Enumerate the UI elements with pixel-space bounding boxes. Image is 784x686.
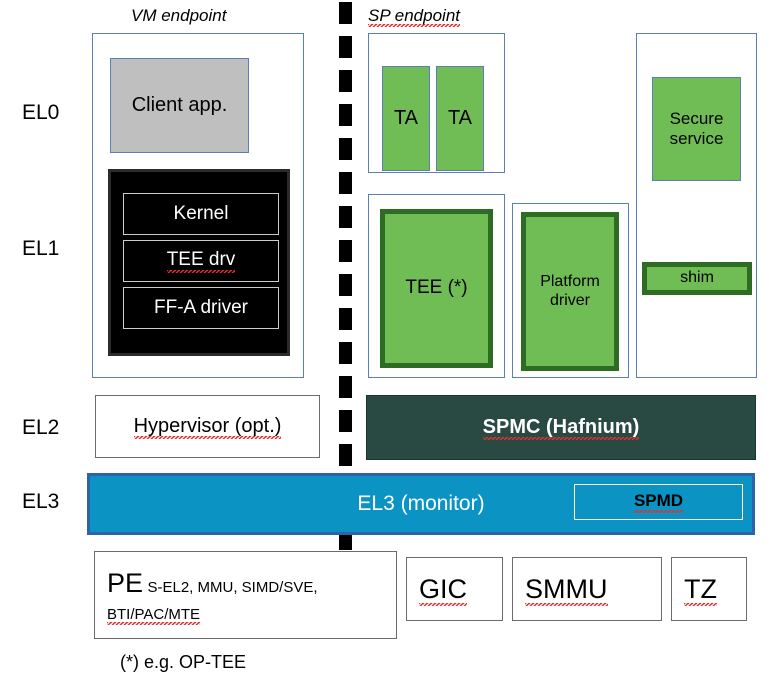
secure-boundary-dash: [339, 70, 352, 92]
secure-boundary-dash: [339, 240, 352, 262]
secure-boundary-dash: [339, 2, 352, 24]
ta-box-2[interactable]: TA: [436, 66, 484, 171]
hw-box-gic[interactable]: GIC: [406, 557, 503, 621]
hw-box-tz[interactable]: TZ: [671, 557, 747, 621]
spmd-label: SPMD: [634, 491, 683, 513]
spmc-label: SPMC (Hafnium): [483, 416, 640, 439]
spmc-box[interactable]: SPMC (Hafnium): [366, 395, 756, 460]
secure-boundary-dash: [339, 308, 352, 330]
secure-boundary-dash: [339, 274, 352, 296]
hw-box-smmu[interactable]: SMMU: [512, 557, 662, 621]
ta-box-1[interactable]: TA: [382, 66, 430, 171]
architecture-diagram: VM endpoint SP endpoint EL0 EL1 EL2 EL3 …: [0, 0, 784, 686]
el-label-el1: EL1: [22, 237, 59, 261]
secure-boundary-dash: [339, 206, 352, 228]
secure-boundary-dash: [339, 36, 352, 58]
secure-boundary-dash: [339, 410, 352, 432]
tee-drv-label: TEE drv: [167, 249, 236, 273]
pe-detail-line2: BTI/PAC/MTE: [107, 606, 200, 625]
sp-endpoint-title: SP endpoint: [368, 6, 460, 26]
ffa-driver-box[interactable]: FF-A driver: [123, 287, 279, 329]
pe-detail-line1: S-EL2, MMU, SIMD/SVE,: [147, 579, 317, 596]
pe-title: PE: [107, 568, 143, 598]
el3-monitor-label: EL3 (monitor): [357, 492, 484, 516]
hw-box-pe[interactable]: PE S-EL2, MMU, SIMD/SVE, BTI/PAC/MTE: [94, 551, 397, 639]
el-label-el2: EL2: [22, 416, 59, 440]
kernel-box[interactable]: Kernel: [123, 193, 279, 235]
platform-driver-label: Platform driver: [526, 273, 614, 311]
tz-label: TZ: [684, 574, 717, 605]
el-label-el0-text: EL0: [22, 101, 59, 124]
platform-driver-box[interactable]: Platform driver: [521, 212, 619, 371]
secure-boundary-dash: [339, 104, 352, 126]
el-label-el0: EL0: [22, 101, 59, 125]
footnote-text: (*) e.g. OP-TEE: [120, 652, 246, 672]
vm-endpoint-title: VM endpoint: [131, 6, 226, 26]
secure-service-box[interactable]: Secure service: [652, 77, 741, 181]
client-app-label: Client app.: [132, 94, 228, 117]
secure-boundary-dash: [339, 138, 352, 160]
shim-label: shim: [680, 269, 714, 288]
tee-label: TEE (*): [405, 277, 467, 299]
ffa-driver-label: FF-A driver: [154, 297, 248, 319]
ta-label-2: TA: [448, 107, 472, 130]
ta-label-1: TA: [394, 107, 418, 130]
secure-boundary-dash: [339, 376, 352, 398]
el-label-el3: EL3: [22, 490, 59, 514]
footnote: (*) e.g. OP-TEE: [120, 652, 246, 673]
secure-boundary-dash: [339, 172, 352, 194]
secure-boundary-dash: [339, 342, 352, 364]
secure-service-label: Secure service: [653, 109, 740, 148]
shim-box[interactable]: shim: [642, 262, 752, 295]
client-app-box[interactable]: Client app.: [110, 58, 249, 153]
kernel-label: Kernel: [174, 203, 229, 225]
hypervisor-label: Hypervisor (opt.): [134, 415, 282, 438]
el-label-el1-text: EL1: [22, 237, 59, 260]
sp-endpoint-title-text: SP endpoint: [368, 6, 460, 27]
vm-endpoint-title-text: VM endpoint: [131, 6, 226, 25]
spmd-box[interactable]: SPMD: [574, 484, 743, 520]
hypervisor-box[interactable]: Hypervisor (opt.): [95, 395, 320, 458]
el-label-el2-text: EL2: [22, 416, 59, 439]
pe-text-block: PE S-EL2, MMU, SIMD/SVE, BTI/PAC/MTE: [95, 552, 396, 626]
tee-drv-box[interactable]: TEE drv: [123, 240, 279, 282]
el-label-el3-text: EL3: [22, 490, 59, 513]
smmu-label: SMMU: [525, 574, 608, 605]
vm-kernel-stack: Kernel TEE drv FF-A driver: [108, 169, 290, 356]
secure-boundary-dash: [339, 444, 352, 466]
gic-label: GIC: [419, 574, 467, 605]
tee-box[interactable]: TEE (*): [380, 209, 493, 368]
